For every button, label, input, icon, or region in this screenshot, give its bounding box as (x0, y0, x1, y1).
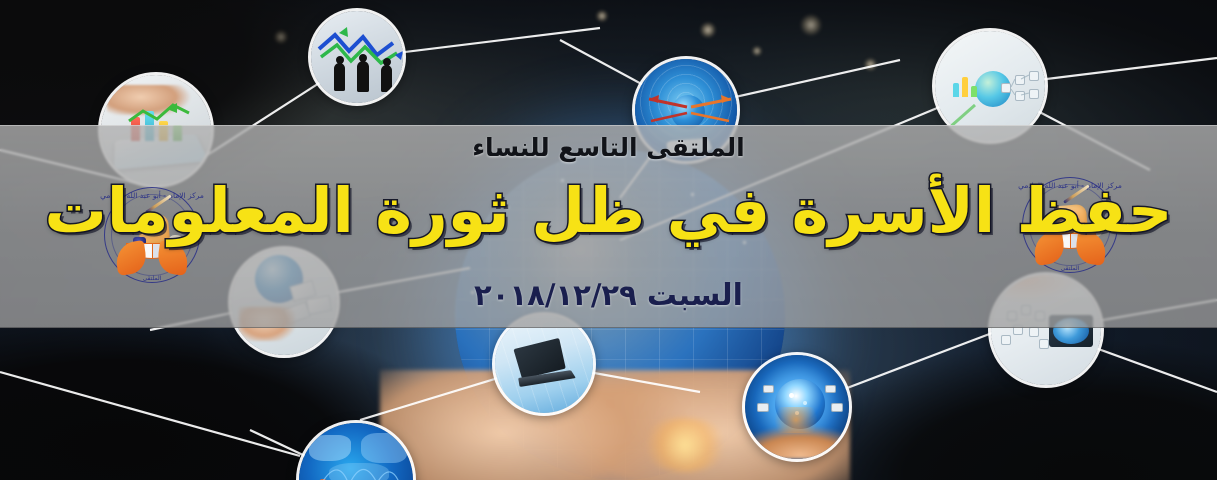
bubble-line-chart-people (308, 8, 406, 106)
hand-light-glow (640, 418, 730, 472)
event-title: حفظ الأسرة في ظل ثورة المعلومات (0, 178, 1217, 243)
bubble-world-map-nodes (296, 420, 416, 480)
event-banner: مركز الإمام - أبو عبد الله القادمي الملت… (0, 0, 1217, 480)
social-icon (1001, 335, 1011, 345)
network-node (789, 393, 794, 398)
network-node (803, 401, 807, 405)
network-links (299, 423, 416, 480)
event-date-value: ٢٠١٨/١٢/٢٩ (474, 278, 647, 312)
band-top-divider (0, 125, 1217, 126)
person-silhouette (334, 63, 345, 91)
trend-arrow (127, 101, 191, 127)
event-subtitle: الملتقى التاسع للنساء (0, 133, 1217, 162)
band-bottom-divider (0, 327, 1217, 328)
device-node (763, 385, 774, 393)
device-node (831, 403, 843, 412)
event-date: السبت٢٠١٨/١٢/٢٩ (0, 278, 1217, 313)
social-icon (1029, 327, 1039, 337)
event-date-weekday: السبت (647, 278, 743, 313)
device-node (757, 403, 769, 412)
bubble-network-globe (742, 352, 852, 462)
device-node (825, 385, 836, 393)
social-icon (1039, 339, 1049, 349)
person-silhouette (357, 61, 369, 92)
warm-glow (769, 407, 823, 433)
person-silhouette (381, 65, 392, 92)
logo-bottom-text-right: الملتقى (1018, 265, 1122, 272)
